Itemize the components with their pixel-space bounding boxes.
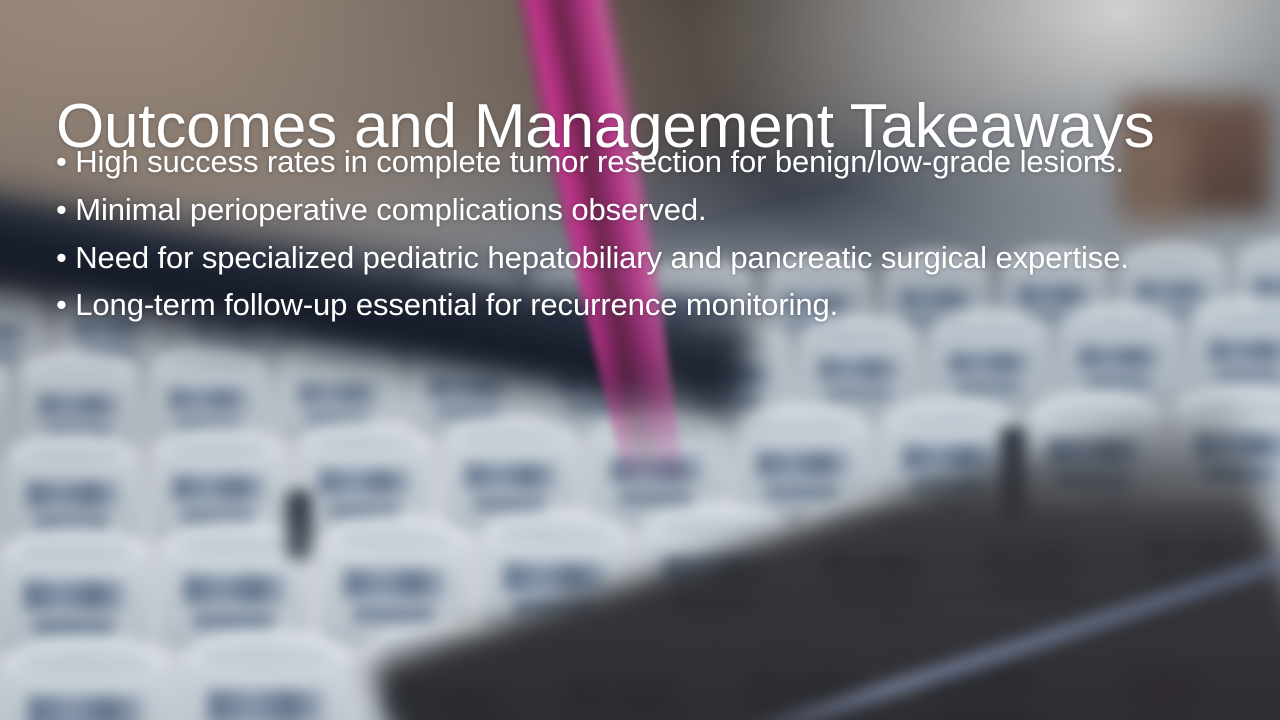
bullet-item-2: • Minimal perioperative complications ob… [56,191,1186,229]
bullet-item-3: • Need for specialized pediatric hepatob… [56,239,1186,277]
bullet-item-1: • High success rates in complete tumor r… [56,143,1186,181]
slide-bullet-list: • High success rates in complete tumor r… [56,143,1186,324]
bullet-item-4: • Long-term follow-up essential for recu… [56,286,1186,324]
slide-content: Outcomes and Management Takeaways • High… [0,0,1280,720]
presentation-slide: Outcomes and Management Takeaways • High… [0,0,1280,720]
